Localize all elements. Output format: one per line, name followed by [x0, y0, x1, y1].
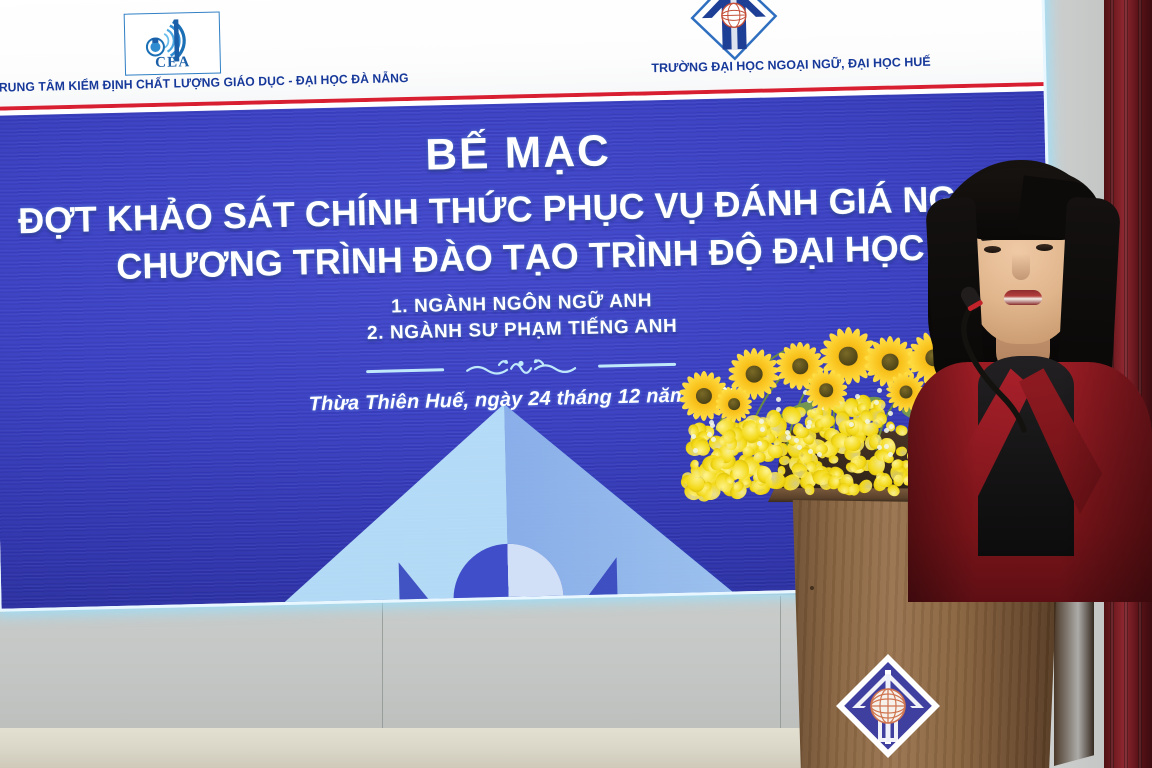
pyramid-watermark-graphic: [269, 398, 744, 608]
cea-acronym-label: CEA: [126, 53, 220, 72]
hue-university-org-name: TRƯỜNG ĐẠI HỌC NGOẠI NGỮ, ĐẠI HỌC HUẾ: [581, 53, 1001, 77]
stage-wall-seam: [382, 596, 383, 728]
gooseneck-microphone-icon: [950, 282, 1080, 452]
cea-logo-icon: CEA: [124, 11, 221, 75]
hue-university-emblem-icon: [832, 650, 944, 762]
conference-scene: CEA TRUNG TÂM KIỂM ĐỊNH CHẤT LƯỢNG GIÁO …: [0, 0, 1152, 768]
flourish-icon: [451, 354, 591, 379]
hue-university-logo-icon: [687, 0, 781, 64]
